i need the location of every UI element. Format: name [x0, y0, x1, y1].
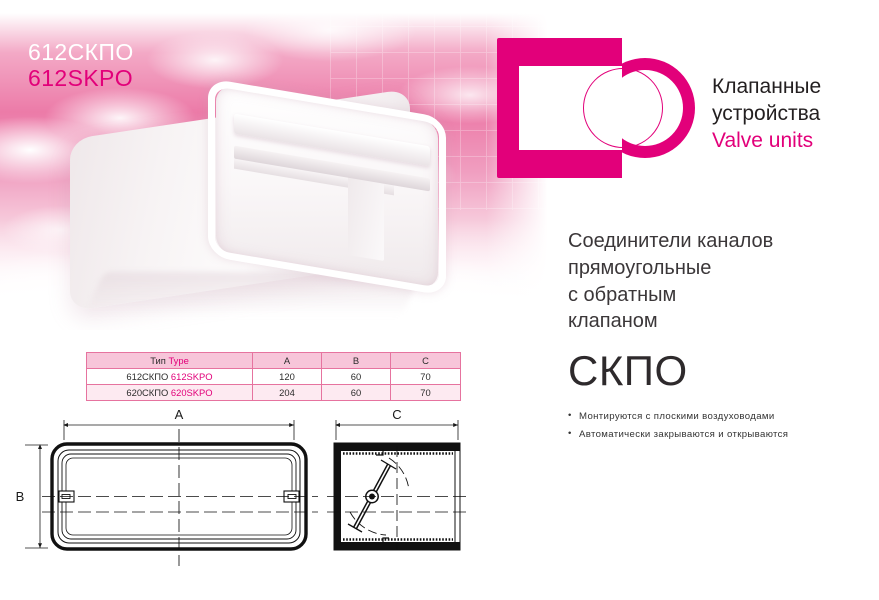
dimensions-table: Тип Type A B C 612СКПО 612SKPO 120 60 70… — [86, 352, 461, 401]
header-type-en: Type — [168, 355, 188, 366]
product-code: СКПО — [568, 347, 868, 395]
badge-label-en: Valve units — [712, 128, 879, 155]
front-view: A B — [16, 407, 318, 566]
overlapping-circles-logo-icon — [583, 68, 663, 148]
product-info-column: Соединители каналовпрямоугольныес обратн… — [568, 228, 868, 447]
dim-label-c: C — [392, 407, 401, 422]
list-item: Автоматически закрываются и открываются — [568, 429, 868, 440]
cell-b: 60 — [322, 369, 391, 385]
cell-type-en: 620SKPO — [171, 387, 213, 398]
feature-list: Монтируются с плоскими воздуховодами Авт… — [568, 411, 868, 440]
cell-c: 70 — [391, 369, 461, 385]
table-header-row: Тип Type A B C — [87, 353, 461, 369]
page-title: 612СКПО 612SKPO — [28, 40, 134, 92]
cell-type-en: 612SKPO — [171, 371, 213, 382]
header-b: B — [322, 353, 391, 369]
technical-drawings: A B C — [0, 400, 520, 595]
badge-label-ru: Клапанные устройства — [712, 74, 879, 128]
header-a: A — [253, 353, 322, 369]
category-badge: Клапанные устройства Valve units — [497, 38, 879, 178]
drawings-svg: A B C — [0, 400, 520, 595]
dim-label-a: A — [175, 407, 184, 422]
cell-type-ru: 620СКПО — [126, 387, 168, 398]
dim-label-b: B — [16, 489, 25, 504]
side-view: C — [327, 407, 470, 550]
cell-c: 70 — [391, 385, 461, 401]
header-type-ru: Тип — [150, 355, 166, 366]
title-ru: 612СКПО — [28, 40, 134, 66]
table-row: 620СКПО 620SKPO 204 60 70 — [87, 385, 461, 401]
header-c: C — [391, 353, 461, 369]
list-item: Монтируются с плоскими воздуховодами — [568, 411, 868, 422]
product-photo — [48, 96, 468, 311]
product-description: Соединители каналовпрямоугольныес обратн… — [568, 228, 868, 335]
cell-type: 612СКПО 612SKPO — [87, 369, 253, 385]
header-type: Тип Type — [87, 353, 253, 369]
cell-b: 60 — [322, 385, 391, 401]
cell-type-ru: 612СКПО — [126, 371, 168, 382]
badge-text: Клапанные устройства Valve units — [712, 74, 879, 155]
table-row: 612СКПО 612SKPO 120 60 70 — [87, 369, 461, 385]
cell-a: 204 — [253, 385, 322, 401]
cell-type: 620СКПО 620SKPO — [87, 385, 253, 401]
cell-a: 120 — [253, 369, 322, 385]
title-en: 612SKPO — [28, 66, 134, 92]
